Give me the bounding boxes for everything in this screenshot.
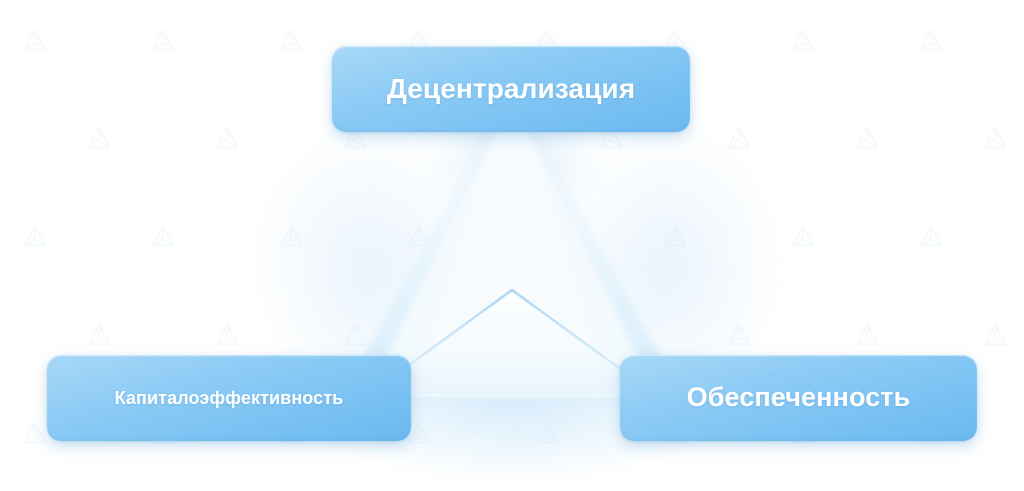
- node-label: Обеспеченность: [677, 382, 921, 413]
- node-collateralization[interactable]: Обеспеченность: [620, 355, 977, 441]
- triangle-logo-watermark: [278, 224, 304, 250]
- triangle-logo-watermark: [214, 126, 240, 152]
- triangle-logo-watermark: [918, 28, 944, 54]
- triangle-logo-watermark: [470, 323, 496, 349]
- triangle-logo-watermark: [790, 28, 816, 54]
- triangle-logo-watermark: [278, 28, 304, 54]
- triangle-logo-watermark: [86, 126, 112, 152]
- triangle-logo-watermark: [534, 224, 560, 250]
- triangle-logo-watermark: [598, 323, 624, 349]
- node-capital-efficiency[interactable]: Капиталоэффективность: [47, 355, 411, 441]
- triangle-logo-watermark: [22, 28, 48, 54]
- node-label: Децентрализация: [377, 73, 645, 105]
- triangle-logo-watermark: [726, 126, 752, 152]
- diagram-canvas: Децентрализация Капиталоэффективность Об…: [0, 0, 1024, 491]
- triangle-logo-watermark: [406, 224, 432, 250]
- triangle-logo-watermark: [982, 323, 1008, 349]
- triangle-logo-watermark: [854, 126, 880, 152]
- triangle-logo-watermark: [22, 224, 48, 250]
- triangle-logo-watermark: [22, 421, 48, 447]
- node-label: Капиталоэффективность: [105, 388, 354, 409]
- triangle-logo-watermark: [662, 224, 688, 250]
- triangle-logo-watermark: [150, 224, 176, 250]
- triangle-logo-watermark: [982, 126, 1008, 152]
- triangle-logo-watermark: [534, 421, 560, 447]
- triangle-logo-watermark: [150, 28, 176, 54]
- triangle-logo-watermark: [790, 224, 816, 250]
- triangle-logo-watermark: [214, 323, 240, 349]
- triangle-logo-watermark: [918, 224, 944, 250]
- triangle-logo-watermark: [86, 323, 112, 349]
- triangle-logo-watermark: [342, 323, 368, 349]
- triangle-logo-watermark: [854, 323, 880, 349]
- node-decentralization[interactable]: Децентрализация: [332, 46, 690, 132]
- triangle-logo-watermark: [726, 323, 752, 349]
